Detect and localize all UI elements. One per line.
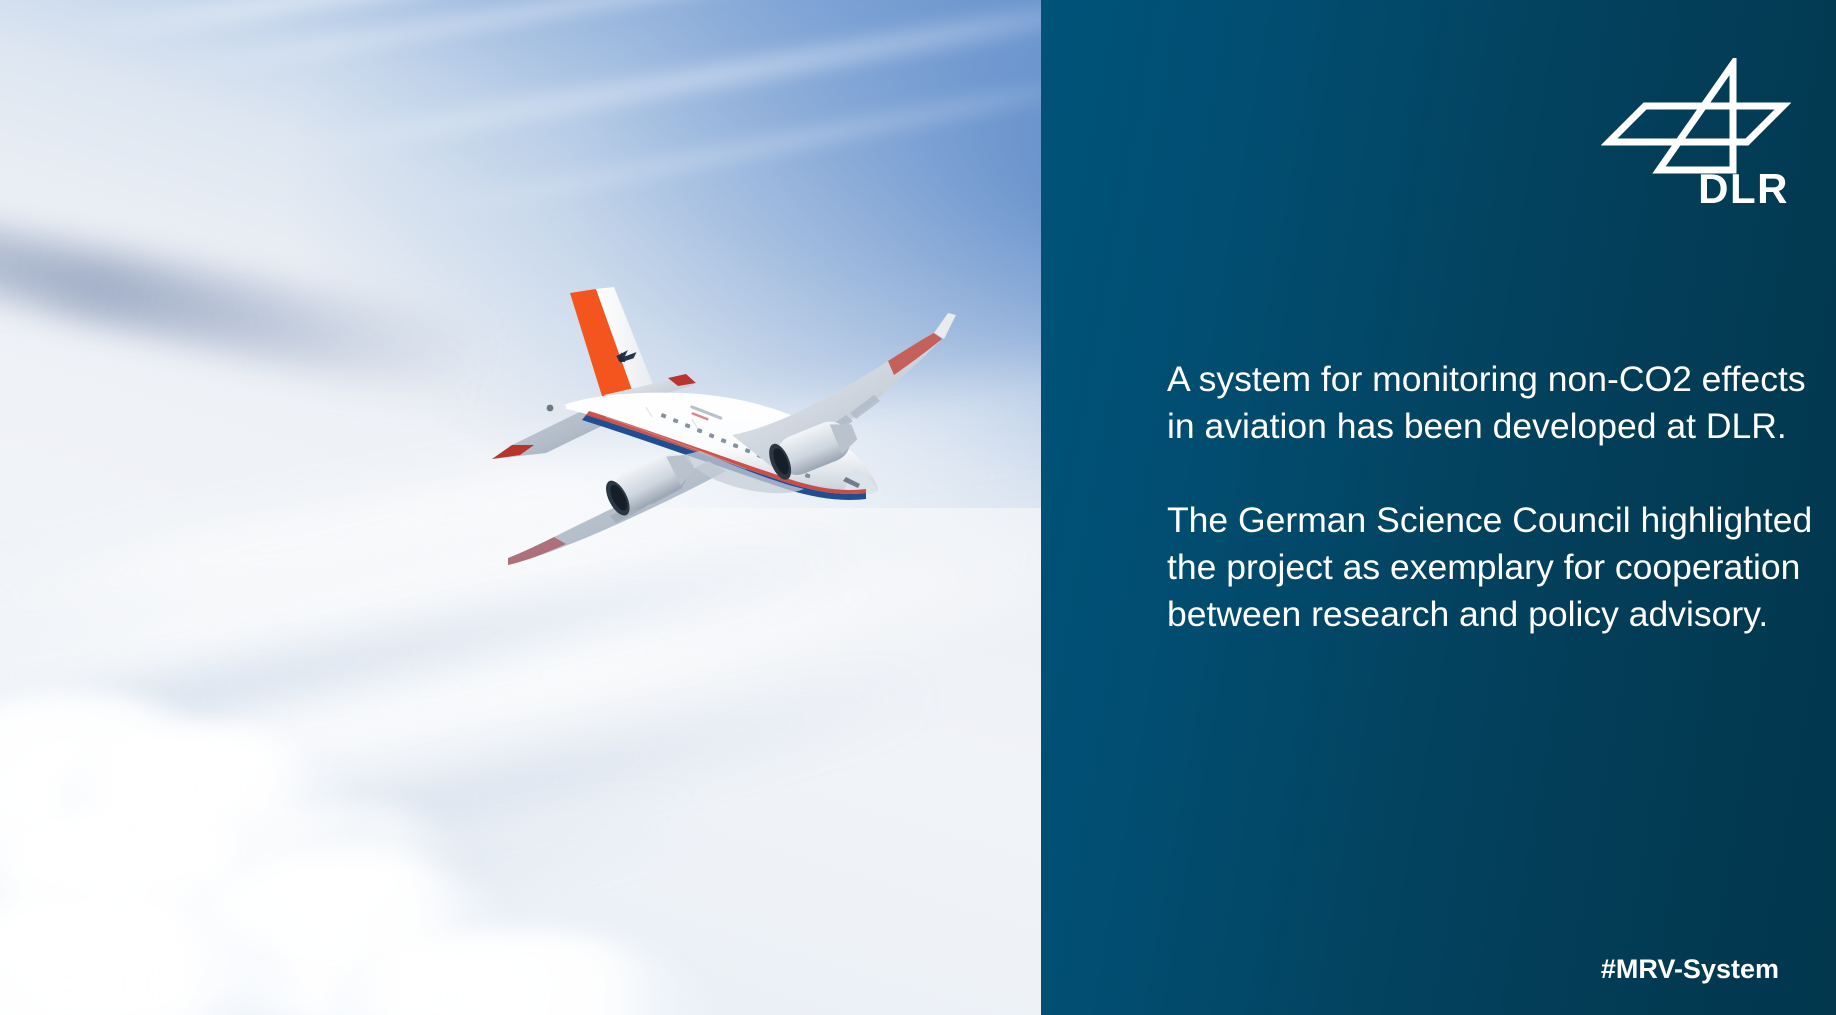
dlr-wordmark: DLR bbox=[1698, 168, 1789, 210]
photo-pane bbox=[0, 0, 1041, 1015]
dlr-star-logo-icon bbox=[1601, 58, 1791, 178]
hashtag-label: #MRV-System bbox=[1601, 956, 1779, 983]
copy-paragraph-2: The German Science Council highlighted t… bbox=[1167, 497, 1815, 638]
paragraph-spacer bbox=[1167, 450, 1815, 497]
copy-paragraph-1: A system for monitoring non-CO2 effects … bbox=[1167, 356, 1815, 450]
dlr-logo: DLR bbox=[1601, 58, 1791, 206]
panel-copy: A system for monitoring non-CO2 effects … bbox=[1167, 356, 1815, 638]
text-panel: DLR A system for monitoring non-CO2 effe… bbox=[1041, 0, 1836, 1015]
slide-canvas: DLR A system for monitoring non-CO2 effe… bbox=[0, 0, 1836, 1015]
airplane-icon bbox=[486, 285, 986, 575]
